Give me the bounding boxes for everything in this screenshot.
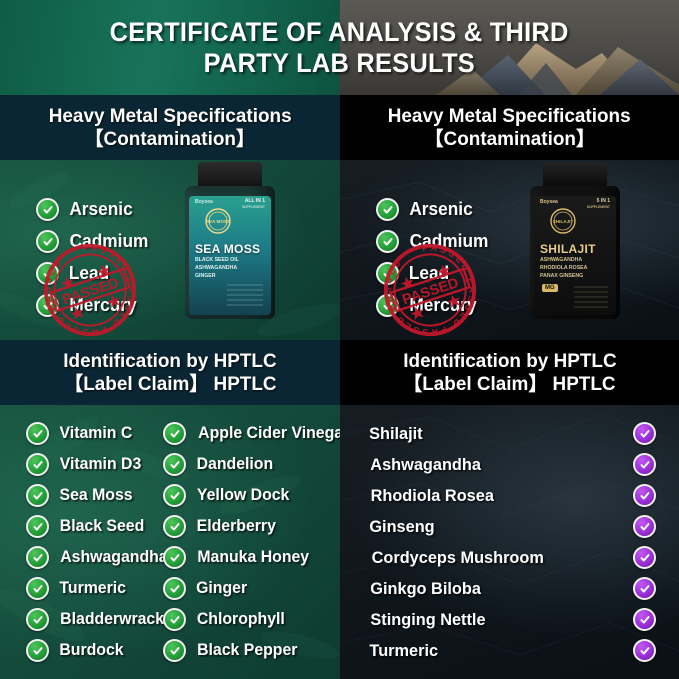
shilajit-product-name: SHILAJIT bbox=[540, 242, 596, 256]
check-circle-green-icon bbox=[26, 484, 49, 507]
sea-moss-brand: Boysea bbox=[195, 199, 213, 205]
shilajit-seal-icon: SHILAJIT bbox=[550, 208, 576, 234]
sea-moss-seal-icon: SEA MOSS bbox=[205, 208, 231, 234]
right-hptlc-row: Turmeric bbox=[368, 639, 656, 662]
right-heavy-metal-heading-line1: Heavy Metal Specifications bbox=[388, 105, 631, 128]
left-hptlc-col1-row: Vitamin C bbox=[26, 422, 134, 445]
left-hptlc-col1-label: Vitamin C bbox=[60, 424, 133, 443]
left-hptlc-col2-row: Elderberry bbox=[163, 515, 278, 538]
left-hptlc-col2-row: Ginger bbox=[163, 577, 248, 600]
leaf-texture-icon bbox=[0, 405, 340, 679]
left-hptlc-heading-line2: 【Label Claim】 HPTLC bbox=[64, 373, 276, 396]
sea-moss-sub3: GINGER bbox=[195, 273, 215, 279]
left-hptlc-col1-row: Black Seed bbox=[26, 515, 146, 538]
banner-title-line1: CERTIFICATE OF ANALYSIS & THIRD bbox=[110, 17, 569, 47]
left-hptlc-col2-label: Chlorophyll bbox=[197, 610, 285, 629]
left-hptlc-col2-row: Yellow Dock bbox=[163, 484, 291, 507]
left-hptlc-col1-label: Bladderwrack bbox=[60, 610, 164, 629]
right-hptlc-heading-line2: 【Label Claim】 HPTLC bbox=[403, 373, 615, 396]
left-hptlc-col2-row: Apple Cider Vinegar bbox=[163, 422, 340, 445]
right-hptlc-row: Ashwagandha bbox=[368, 453, 656, 476]
left-hptlc-col2-row: Black Pepper bbox=[163, 639, 300, 662]
left-hptlc-col2-label: Black Pepper bbox=[197, 641, 297, 660]
check-circle-green-icon bbox=[163, 639, 186, 662]
sea-moss-sub2: ASHWAGANDHA bbox=[195, 265, 237, 271]
banner-title-line2: PARTY LAB RESULTS bbox=[204, 48, 475, 78]
check-circle-green-icon bbox=[26, 608, 49, 631]
left-hptlc-col2-row: Chlorophyll bbox=[163, 608, 287, 631]
right-hptlc-label: Ashwagandha bbox=[370, 455, 481, 475]
check-circle-green-icon bbox=[163, 608, 186, 631]
right-hptlc-row: Ginseng bbox=[368, 515, 656, 538]
check-circle-purple-icon bbox=[633, 422, 656, 445]
svg-text:SHILAJIT: SHILAJIT bbox=[553, 219, 574, 224]
shilajit-badge-sub: SUPPLEMENT bbox=[587, 205, 610, 209]
supplement-facts-lines-icon bbox=[538, 283, 612, 313]
left-hptlc-col1-label: Turmeric bbox=[59, 579, 126, 598]
check-circle-purple-icon bbox=[633, 608, 656, 631]
check-circle-purple-icon bbox=[633, 453, 656, 476]
check-circle-green-icon bbox=[163, 484, 186, 507]
shilajit-brand: Boysea bbox=[540, 199, 558, 205]
left-hptlc-col1-label: Burdock bbox=[59, 641, 123, 660]
banner-title: CERTIFICATE OF ANALYSIS & THIRD PARTY LA… bbox=[0, 0, 679, 95]
check-circle-green-icon bbox=[26, 639, 49, 662]
check-circle-green-icon bbox=[376, 198, 399, 221]
check-circle-green-icon bbox=[26, 577, 49, 600]
check-circle-purple-icon bbox=[633, 484, 656, 507]
left-hptlc-col2-label: Elderberry bbox=[197, 517, 276, 536]
left-heavy-metal-panel: Boysea ALL IN 1 SUPPLEMENT SEA MOSS SEA … bbox=[0, 160, 340, 340]
left-hptlc-col2-row: Dandelion bbox=[163, 453, 275, 476]
right-hptlc-label: Stinging Nettle bbox=[370, 610, 485, 630]
right-heavy-metal-header: Heavy Metal Specifications 【Contaminatio… bbox=[340, 95, 679, 160]
right-hptlc-row: Stinging Nettle bbox=[368, 608, 656, 631]
sea-moss-product-name: SEA MOSS bbox=[195, 242, 260, 256]
right-heavy-metal-item-label: Arsenic bbox=[409, 199, 472, 220]
left-hptlc-col1-label: Ashwagandha bbox=[60, 548, 167, 567]
left-heavy-metal-header: Heavy Metal Specifications 【Contaminatio… bbox=[0, 95, 340, 160]
left-heavy-metal-heading-line1: Heavy Metal Specifications bbox=[49, 105, 292, 128]
left-hptlc-col1-row: Vitamin D3 bbox=[26, 453, 143, 476]
left-hptlc-col2-label: Ginger bbox=[196, 579, 247, 598]
left-hptlc-panel: Vitamin C Vitamin D3 Sea Moss Black Seed… bbox=[0, 405, 340, 679]
left-hptlc-col1-label: Black Seed bbox=[60, 517, 145, 536]
right-hptlc-header: Identification by HPTLC 【Label Claim】 HP… bbox=[340, 340, 679, 405]
rock-texture-icon bbox=[340, 405, 679, 679]
top-banner: CERTIFICATE OF ANALYSIS & THIRD PARTY LA… bbox=[0, 0, 679, 95]
check-circle-purple-icon bbox=[633, 577, 656, 600]
left-hptlc-col2-label: Yellow Dock bbox=[197, 486, 289, 505]
passed-stamp-icon: PASSED PASSED PASSED PASSED PASSED bbox=[382, 242, 478, 338]
check-circle-purple-icon bbox=[633, 515, 656, 538]
shilajit-sub3: PANAX GINSENG bbox=[540, 273, 583, 279]
right-hptlc-row: Cordyceps Mushroom bbox=[368, 546, 656, 569]
shilajit-sub1: ASHWAGANDHA bbox=[540, 257, 582, 263]
right-hptlc-label: Turmeric bbox=[369, 641, 438, 661]
check-circle-green-icon bbox=[163, 577, 186, 600]
check-circle-green-icon bbox=[163, 422, 186, 445]
shilajit-badge: 5 IN 1 bbox=[597, 198, 610, 204]
right-heavy-metal-panel: Boysea 5 IN 1 SUPPLEMENT SHILAJIT SHILAJ… bbox=[340, 160, 679, 340]
check-circle-green-icon bbox=[26, 515, 49, 538]
right-hptlc-panel: Shilajit Ashwagandha Rhodiola Rosea Gins… bbox=[340, 405, 679, 679]
check-circle-green-icon bbox=[163, 515, 186, 538]
left-hptlc-col1-row: Ashwagandha bbox=[26, 546, 170, 569]
right-heavy-metal-heading-line2: 【Contamination】 bbox=[424, 128, 594, 151]
check-circle-green-icon bbox=[36, 198, 59, 221]
right-hptlc-row: Shilajit bbox=[368, 422, 656, 445]
shilajit-bottle-image: Boysea 5 IN 1 SUPPLEMENT SHILAJIT SHILAJ… bbox=[510, 160, 640, 332]
right-hptlc-label: Ginseng bbox=[369, 517, 434, 537]
supplement-facts-lines-icon bbox=[193, 281, 267, 313]
right-heavy-metal-row: Arsenic bbox=[376, 198, 474, 221]
right-hptlc-label: Ginkgo Biloba bbox=[370, 579, 481, 599]
right-hptlc-label: Shilajit bbox=[369, 424, 423, 444]
check-circle-green-icon bbox=[26, 453, 49, 476]
check-circle-purple-icon bbox=[633, 639, 656, 662]
left-hptlc-col2-row: Manuka Honey bbox=[163, 546, 311, 569]
check-circle-green-icon bbox=[26, 546, 49, 569]
left-heavy-metal-item-label: Arsenic bbox=[69, 199, 132, 220]
right-hptlc-row: Ginkgo Biloba bbox=[368, 577, 656, 600]
left-hptlc-col1-row: Burdock bbox=[26, 639, 125, 662]
right-hptlc-heading-line1: Identification by HPTLC bbox=[403, 350, 616, 373]
left-hptlc-header: Identification by HPTLC 【Label Claim】 HP… bbox=[0, 340, 340, 405]
check-circle-purple-icon bbox=[633, 546, 656, 569]
check-circle-green-icon bbox=[163, 546, 186, 569]
check-circle-green-icon bbox=[26, 422, 49, 445]
left-hptlc-col1-row: Sea Moss bbox=[26, 484, 134, 507]
sea-moss-bottle-image: Boysea ALL IN 1 SUPPLEMENT SEA MOSS SEA … bbox=[165, 160, 295, 332]
check-circle-green-icon bbox=[163, 453, 186, 476]
certificate-of-analysis-infographic: CERTIFICATE OF ANALYSIS & THIRD PARTY LA… bbox=[0, 0, 679, 679]
left-heavy-metal-heading-line2: 【Contamination】 bbox=[85, 128, 255, 151]
left-hptlc-col1-row: Bladderwrack bbox=[26, 608, 166, 631]
sea-moss-sub1: BLACK SEED OIL bbox=[195, 257, 239, 263]
left-hptlc-heading-line1: Identification by HPTLC bbox=[63, 350, 276, 373]
right-hptlc-label: Cordyceps Mushroom bbox=[372, 548, 544, 568]
shilajit-sub2: RHODIOLA ROSEA bbox=[540, 265, 587, 271]
left-heavy-metal-row: Arsenic bbox=[36, 198, 134, 221]
sea-moss-badge-sub: SUPPLEMENT bbox=[242, 205, 265, 209]
left-hptlc-col2-label: Dandelion bbox=[197, 455, 274, 474]
left-hptlc-col2-label: Apple Cider Vinegar bbox=[198, 424, 340, 443]
left-hptlc-col1-row: Turmeric bbox=[26, 577, 127, 600]
svg-text:SEA MOSS: SEA MOSS bbox=[206, 219, 230, 224]
left-hptlc-col1-label: Sea Moss bbox=[60, 486, 133, 505]
left-hptlc-col2-label: Manuka Honey bbox=[197, 548, 309, 567]
passed-stamp-icon: PASSED PASSED PASSED PASSED PASSED bbox=[42, 242, 138, 338]
left-hptlc-col1-label: Vitamin D3 bbox=[60, 455, 142, 474]
sea-moss-badge: ALL IN 1 bbox=[245, 198, 265, 204]
right-hptlc-row: Rhodiola Rosea bbox=[368, 484, 656, 507]
right-hptlc-label: Rhodiola Rosea bbox=[371, 486, 494, 506]
